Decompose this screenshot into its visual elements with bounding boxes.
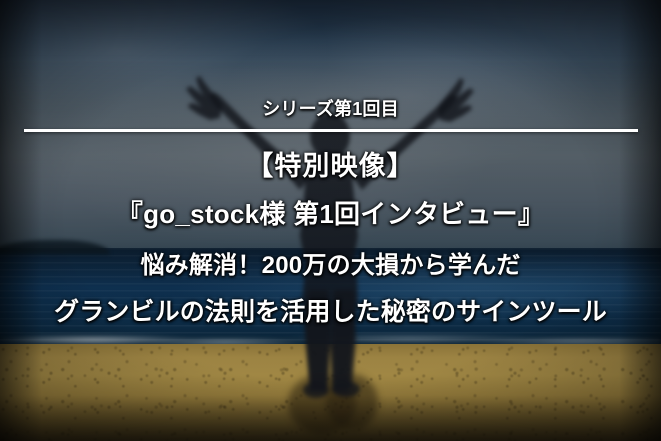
title-card: シリーズ第1回目 【特別映像】 『go_stock様 第1回インタビュー』 悩み… bbox=[0, 0, 661, 441]
person-silhouette-icon bbox=[0, 0, 661, 441]
